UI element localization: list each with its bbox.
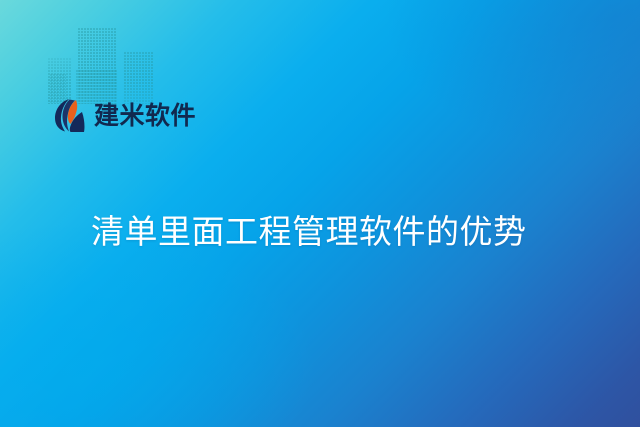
brand-logo: 建米软件: [54, 98, 196, 132]
pixel-mosaic-skyline-icon: [48, 26, 178, 104]
page-title: 清单里面工程管理软件的优势: [91, 212, 527, 252]
jianmi-swoosh-logo-icon: [54, 98, 87, 132]
promo-banner: 建米软件 清单里面工程管理软件的优势: [0, 0, 640, 427]
brand-name: 建米软件: [94, 103, 196, 128]
skyline-tower-right: [124, 52, 154, 104]
skyline-tower-mid: [78, 28, 116, 104]
